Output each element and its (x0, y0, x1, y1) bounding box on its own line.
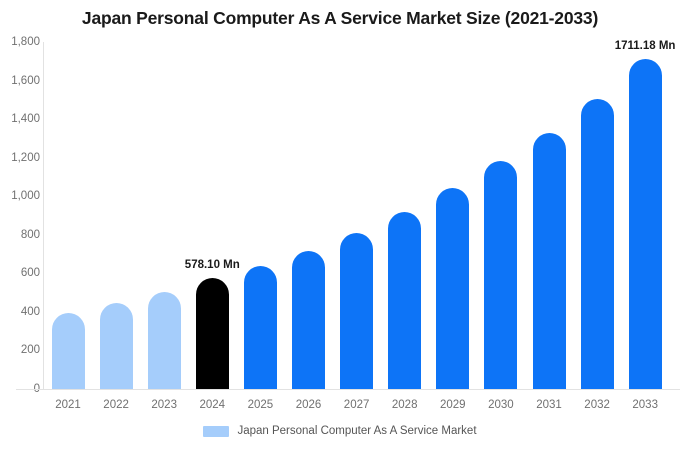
y-axis-tick-label: 400 (2, 306, 40, 318)
legend-swatch-japan-pcaas-market (203, 426, 229, 437)
bar-fill-2026[interactable] (292, 251, 325, 389)
bar-fill-2030[interactable] (484, 161, 517, 389)
bar-fill-2022[interactable] (100, 303, 133, 389)
chart-title: Japan Personal Computer As A Service Mar… (0, 8, 680, 29)
y-axis-tick-label: 600 (2, 267, 40, 279)
bar-fill-2027[interactable] (340, 233, 373, 389)
bar-fill-2031[interactable] (533, 133, 566, 389)
bar-2025[interactable] (244, 266, 277, 389)
bar-2030[interactable] (484, 161, 517, 389)
y-axis: 02004006008001,0001,2001,4001,6001,800 (0, 0, 40, 450)
bar-fill-2033[interactable] (629, 59, 662, 389)
bar-fill-2028[interactable] (388, 212, 421, 389)
y-axis-tick-label: 1,600 (2, 75, 40, 87)
value-label-2024: 578.10 Mn (185, 259, 240, 271)
bar-2033[interactable] (629, 59, 662, 389)
bar-fill-2029[interactable] (436, 188, 469, 389)
bar-2032[interactable] (581, 99, 614, 389)
bar-fill-2032[interactable] (581, 99, 614, 389)
bar-fill-2023[interactable] (148, 292, 181, 389)
y-axis-tick-label: 1,800 (2, 36, 40, 48)
y-axis-tick-label: 800 (2, 229, 40, 241)
bar-2024[interactable] (196, 278, 229, 389)
bar-fill-2021[interactable] (52, 313, 85, 389)
y-axis-tick-label: 1,400 (2, 113, 40, 125)
bar-fill-2024[interactable] (196, 278, 229, 389)
bar-2029[interactable] (436, 188, 469, 389)
y-axis-tick-label: 1,200 (2, 152, 40, 164)
bar-2022[interactable] (100, 303, 133, 389)
bar-2021[interactable] (52, 313, 85, 389)
chart-legend: Japan Personal Computer As A Service Mar… (0, 425, 680, 437)
bar-2031[interactable] (533, 133, 566, 389)
bar-2027[interactable] (340, 233, 373, 389)
y-axis-tick-label: 1,000 (2, 190, 40, 202)
bar-2028[interactable] (388, 212, 421, 389)
x-axis-tick-label-2033: 2033 (615, 399, 675, 411)
legend-label-japan-pcaas-market: Japan Personal Computer As A Service Mar… (237, 425, 476, 437)
x-axis-line (16, 389, 680, 390)
chart-container: Japan Personal Computer As A Service Mar… (0, 0, 680, 450)
plot-area (44, 42, 672, 389)
bar-2023[interactable] (148, 292, 181, 389)
bar-fill-2025[interactable] (244, 266, 277, 389)
value-label-2033: 1711.18 Mn (615, 40, 676, 52)
y-axis-tick-label: 200 (2, 344, 40, 356)
bar-2026[interactable] (292, 251, 325, 389)
